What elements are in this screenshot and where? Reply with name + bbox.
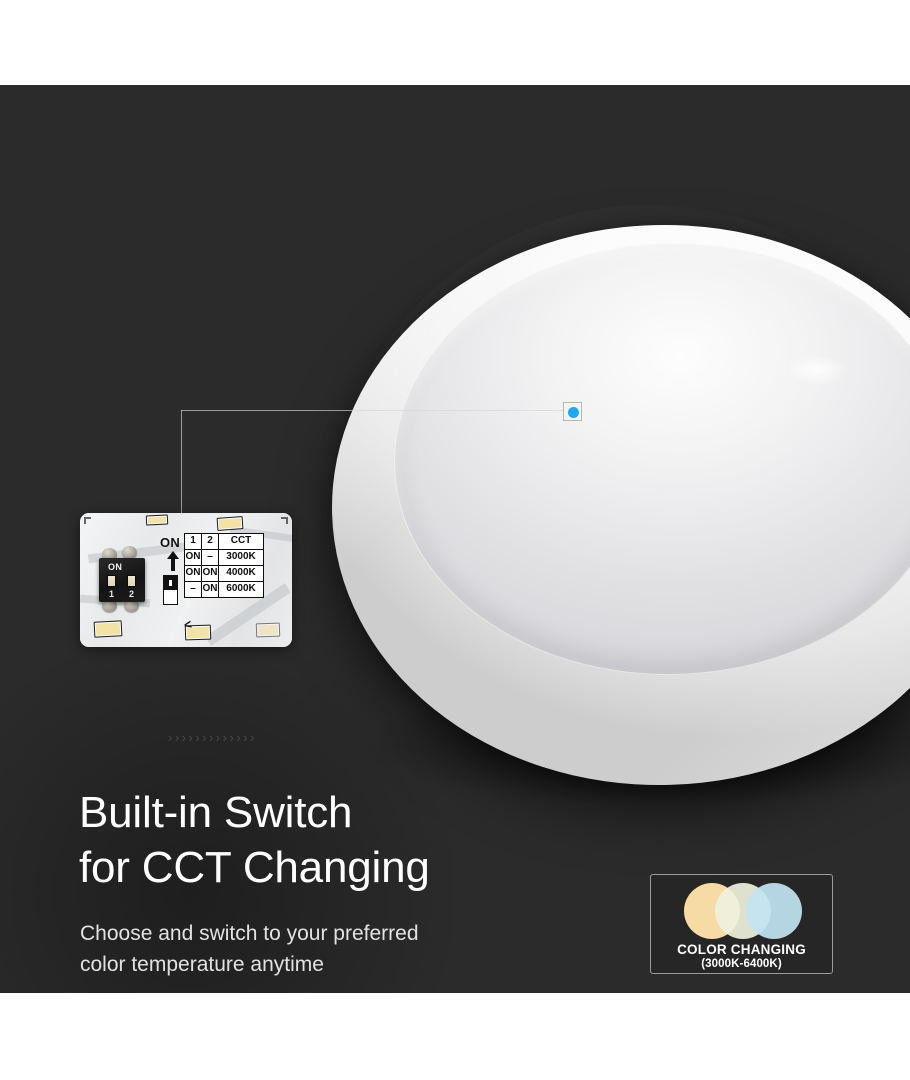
cct-cell-value: 3000K — [219, 550, 264, 566]
dip-switch-slider-1[interactable] — [107, 575, 116, 587]
dip-switch-slider-2[interactable] — [127, 575, 136, 587]
reference-switch-graphic — [163, 575, 178, 605]
silkscreen-on-label: ON — [160, 535, 180, 550]
cct-table-row: ON – 3000K — [185, 550, 264, 566]
led-chip — [256, 623, 280, 638]
headline-line-1: Built-in Switch — [79, 785, 639, 840]
dark-feature-panel: ON 1 2 ON < 1 2 CCT — [0, 85, 910, 993]
cct-cell-sw1: ON — [185, 550, 202, 566]
badge-subtitle: (3000K-6400K) — [651, 958, 832, 970]
led-chip — [217, 516, 244, 531]
cct-cell-sw2: – — [202, 550, 219, 566]
led-chip — [94, 620, 123, 637]
reference-switch-top — [164, 576, 177, 590]
led-chip — [146, 514, 168, 525]
cct-cell-value: 6000K — [219, 582, 264, 598]
cct-table-body: 1 2 CCT ON – 3000K ON ON 4000K — [185, 534, 264, 598]
dip-switch-number-1: 1 — [109, 589, 114, 599]
callout-line-vertical — [181, 410, 182, 514]
subtitle: Choose and switch to your preferred colo… — [80, 918, 550, 980]
callout-marker[interactable] — [563, 402, 582, 421]
dip-switch-detail-photo: ON 1 2 ON < 1 2 CCT — [80, 513, 292, 647]
subtitle-line-1: Choose and switch to your preferred — [80, 918, 550, 949]
up-arrow-icon — [166, 550, 180, 572]
cct-cell-sw1: ON — [185, 566, 202, 582]
cct-header-switch-2: 2 — [202, 534, 219, 550]
dip-switch-component[interactable]: ON 1 2 — [99, 558, 145, 602]
cct-table-header-row: 1 2 CCT — [185, 534, 264, 550]
cct-header-switch-1: 1 — [185, 534, 202, 550]
subtitle-line-2: color temperature anytime — [80, 949, 550, 980]
headline-line-2: for CCT Changing — [79, 840, 639, 895]
cct-cell-value: 4000K — [219, 566, 264, 582]
dip-switch-on-label: ON — [108, 562, 122, 572]
product-feature-banner: ON 1 2 ON < 1 2 CCT — [0, 0, 910, 1080]
cct-cell-sw1: – — [185, 582, 202, 598]
photo-corner-mark — [84, 517, 91, 524]
cct-cell-sw2: ON — [202, 582, 219, 598]
badge-circle-group — [651, 883, 832, 939]
cct-header-cct: CCT — [219, 534, 264, 550]
badge-circle-cool-icon — [746, 883, 802, 939]
chevron-decoration-left: ››››››››››››› — [168, 730, 257, 745]
callout-dot-icon — [568, 407, 579, 418]
cct-lookup-table: 1 2 CCT ON – 3000K ON ON 4000K — [184, 533, 264, 598]
dip-switch-number-2: 2 — [129, 589, 134, 599]
photo-corner-mark — [281, 517, 288, 524]
callout-line-horizontal — [181, 410, 563, 411]
headline: Built-in Switch for CCT Changing — [79, 785, 639, 896]
color-changing-badge: COLOR CHANGING (3000K-6400K) — [650, 874, 833, 974]
cct-cell-sw2: ON — [202, 566, 219, 582]
cct-table-row: – ON 6000K — [185, 582, 264, 598]
ceiling-lamp-photo — [332, 165, 910, 805]
cct-table-row: ON ON 4000K — [185, 566, 264, 582]
badge-title: COLOR CHANGING — [651, 942, 832, 957]
